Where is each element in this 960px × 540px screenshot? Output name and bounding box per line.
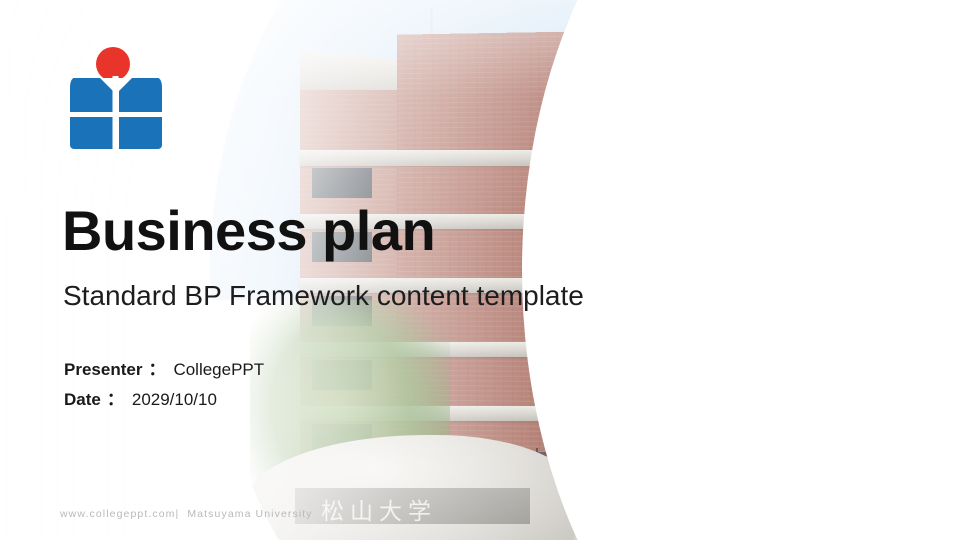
- presenter-label: Presenter: [64, 360, 142, 379]
- presentation-meta: Presenter：CollegePPT Date：2029/10/10: [64, 355, 264, 415]
- page-title: Business plan: [62, 203, 435, 259]
- presenter-colon: ：: [142, 360, 167, 379]
- presenter-row: Presenter：CollegePPT: [64, 355, 264, 385]
- date-value: 2029/10/10: [126, 390, 217, 409]
- date-row: Date：2029/10/10: [64, 385, 264, 415]
- slide-content: Business plan Standard BP Framework cont…: [0, 0, 960, 540]
- footer: www.collegeppt.com| Matsuyama University: [60, 508, 313, 520]
- matsuyama-university-logo: [70, 46, 162, 158]
- presentation-slide: 2023年、松山大学は創立100周年 松山大学: [0, 0, 960, 540]
- footer-separator: |: [176, 508, 184, 520]
- date-label: Date: [64, 390, 101, 409]
- footer-organization: Matsuyama University: [187, 508, 312, 520]
- date-colon: ：: [101, 390, 126, 409]
- page-subtitle: Standard BP Framework content template: [63, 281, 584, 312]
- footer-site: www.collegeppt.com: [60, 508, 176, 520]
- presenter-value: CollegePPT: [167, 360, 264, 379]
